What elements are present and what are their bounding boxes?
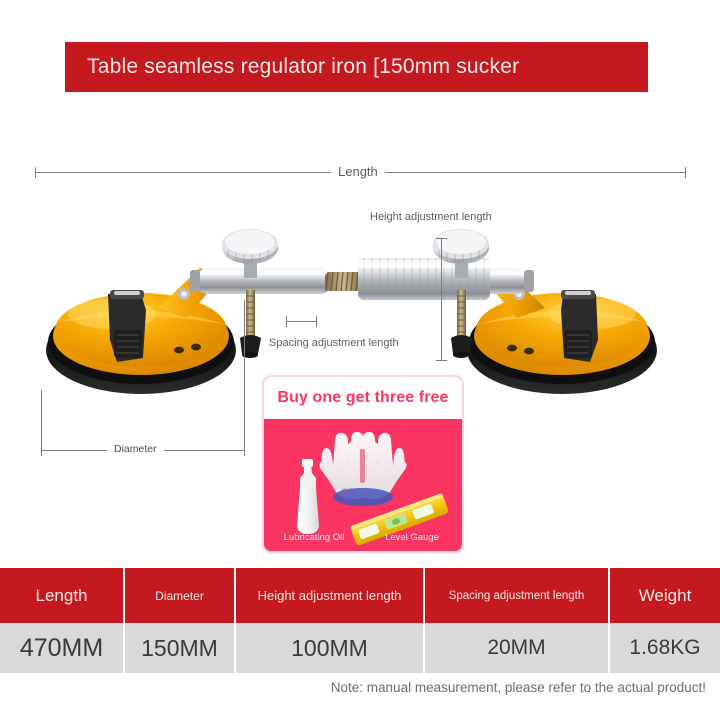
promo-headline: Buy one get three free: [277, 389, 448, 407]
diameter-tick-right: [244, 445, 245, 456]
spacing-adjustment-label: Spacing adjustment length: [262, 337, 406, 349]
title-banner: Table seamless regulator iron [150mm suc…: [65, 42, 648, 92]
promo-headline-bar: Buy one get three free: [264, 377, 462, 419]
right-vertical-screw: [451, 290, 472, 358]
diameter-dimension-label: Diameter: [107, 443, 164, 455]
level-gauge-label: Level Gauge: [364, 532, 460, 543]
header-cell-length: Length: [0, 568, 125, 623]
value-diameter: 150MM: [141, 635, 218, 662]
value-height-adjustment: 100MM: [291, 635, 368, 662]
height-adjustment-label: Height adjustment length: [363, 211, 499, 223]
height-adjustment-tick-bottom: [436, 360, 447, 361]
value-cell-spacing-adjustment: 20MM: [425, 623, 610, 673]
value-cell-weight: 1.68KG: [610, 623, 720, 673]
value-cell-height-adjustment: 100MM: [236, 623, 425, 673]
promo-body: Gloves Lubricating Oil Level Gauge: [264, 419, 462, 553]
header-label-height-adjustment: Height adjustment length: [258, 588, 402, 603]
header-label-weight: Weight: [639, 586, 692, 606]
header-cell-diameter: Diameter: [125, 568, 236, 623]
spacing-adjustment-tick-left: [286, 316, 287, 327]
length-tick-left: [35, 167, 36, 178]
header-label-diameter: Diameter: [155, 589, 204, 603]
left-lever-handle: [108, 290, 146, 362]
gloves-label: Gloves: [316, 487, 402, 499]
height-adjustment-tick-top: [436, 238, 447, 239]
diameter-leader-right: [244, 300, 245, 450]
header-cell-weight: Weight: [610, 568, 720, 623]
value-cell-diameter: 150MM: [125, 623, 236, 673]
value-spacing-adjustment: 20MM: [487, 636, 545, 660]
page-title: Table seamless regulator iron [150mm suc…: [87, 55, 519, 79]
value-cell-length: 470MM: [0, 623, 125, 673]
spec-table-value-row: 470MM 150MM 100MM 20MM 1.68KG: [0, 623, 720, 673]
right-lever-handle: [561, 290, 598, 362]
spec-table-header-row: Length Diameter Height adjustment length…: [0, 568, 720, 623]
length-tick-right: [685, 167, 686, 178]
diameter-leader-left: [41, 390, 42, 450]
header-cell-spacing-adjustment: Spacing adjustment length: [425, 568, 610, 623]
lubricating-oil-label: Lubricating Oil: [266, 532, 362, 543]
length-dimension-label: Length: [331, 164, 385, 179]
height-adjustment-line: [441, 238, 442, 360]
promo-box: Buy one get three free: [262, 375, 464, 553]
spec-table: Length Diameter Height adjustment length…: [0, 568, 720, 673]
product-spec-page: Table seamless regulator iron [150mm suc…: [0, 0, 720, 720]
value-length: 470MM: [20, 634, 103, 663]
value-weight: 1.68KG: [629, 636, 700, 660]
header-label-length: Length: [36, 586, 88, 606]
spacing-adjustment-line: [286, 321, 317, 322]
diameter-tick-left: [41, 445, 42, 456]
header-label-spacing-adjustment: Spacing adjustment length: [449, 590, 585, 602]
footer-note: Note: manual measurement, please refer t…: [0, 680, 720, 695]
header-cell-height-adjustment: Height adjustment length: [236, 568, 425, 623]
spacing-adjustment-tick-right: [316, 316, 317, 327]
